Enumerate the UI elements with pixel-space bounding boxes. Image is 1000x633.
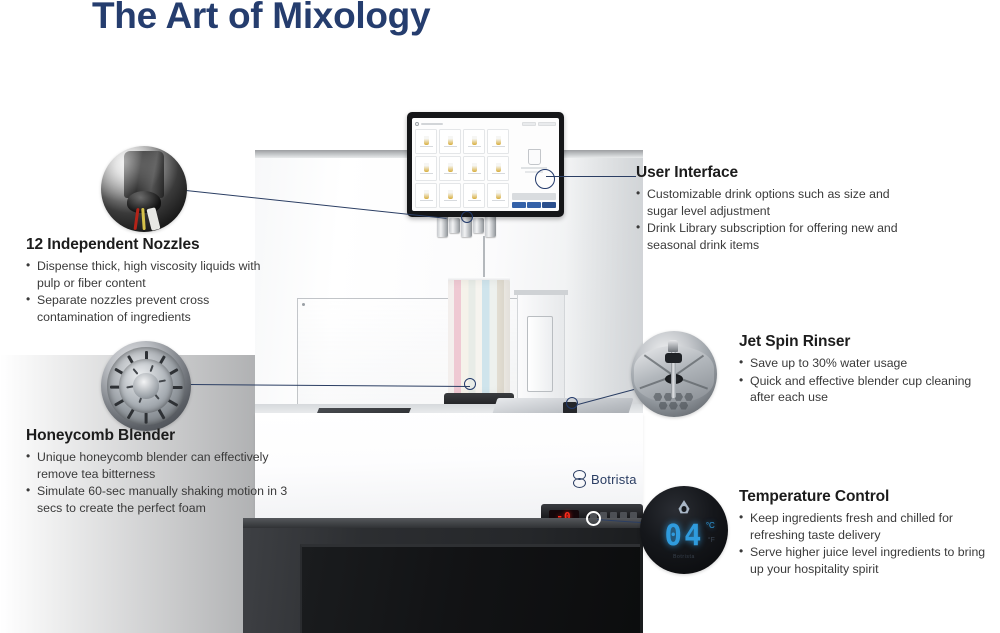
drink-tile[interactable] xyxy=(487,183,509,208)
drink-tile[interactable] xyxy=(415,129,437,154)
drink-tile[interactable] xyxy=(439,156,461,181)
hotspot-rinser[interactable] xyxy=(566,397,578,409)
cup-preview-icon xyxy=(528,149,541,165)
callout-bullet: Unique honeycomb blender can effectively… xyxy=(26,449,288,482)
drink-grid[interactable] xyxy=(415,129,509,208)
callout-bullet: Simulate 60-sec manually shaking motion … xyxy=(26,483,288,516)
base-cabinet-door[interactable] xyxy=(300,544,640,633)
temperature-unit-f: °F xyxy=(708,537,715,544)
drink-tile[interactable] xyxy=(487,156,509,181)
drink-tile[interactable] xyxy=(415,183,437,208)
tablet-search-chip[interactable] xyxy=(538,122,556,126)
callout-user-interface: User Interface Customizable drink option… xyxy=(636,164,898,254)
drink-tile[interactable] xyxy=(463,183,485,208)
callout-nozzles: 12 Independent Nozzles Dispense thick, h… xyxy=(26,236,284,326)
callout-bullet: Customizable drink options such as size … xyxy=(636,186,898,219)
tablet-action-buttons[interactable] xyxy=(512,202,556,208)
water-drop-icon xyxy=(679,500,690,514)
callout-bullet-list: Unique honeycomb blender can effectively… xyxy=(26,449,288,516)
callout-bullet: Save up to 30% water usage xyxy=(739,355,991,372)
nozzle-closeup-photo xyxy=(101,146,187,232)
hotspot-nozzles[interactable] xyxy=(461,211,473,223)
temperature-unit-c: °C xyxy=(706,521,715,530)
callout-honeycomb-blender: Honeycomb Blender Unique honeycomb blend… xyxy=(26,427,288,517)
drink-tile[interactable] xyxy=(487,129,509,154)
callout-bullet-list: Keep ingredients fresh and chilled for r… xyxy=(739,510,997,577)
callout-bullet: Separate nozzles prevent cross contamina… xyxy=(26,292,284,325)
callout-title: User Interface xyxy=(636,164,898,182)
tablet-title-placeholder xyxy=(421,123,443,126)
tablet-action-button[interactable] xyxy=(527,202,541,208)
tablet-header xyxy=(415,121,556,127)
hotspot-user-interface[interactable] xyxy=(535,169,555,189)
drink-tile[interactable] xyxy=(439,129,461,154)
botrista-infinity-icon xyxy=(573,470,586,489)
drink-tile[interactable] xyxy=(463,156,485,181)
callout-title: Honeycomb Blender xyxy=(26,427,288,445)
page-title: The Art of Mixology xyxy=(92,0,430,37)
drink-tile[interactable] xyxy=(415,156,437,181)
tablet-filter-chip[interactable] xyxy=(522,122,536,126)
tablet-touchscreen[interactable] xyxy=(407,112,564,217)
infographic-canvas: The Art of Mixology xyxy=(0,0,1000,633)
callout-bullet-list: Dispense thick, high viscosity liquids w… xyxy=(26,258,284,325)
brand-logo: Botrista xyxy=(573,470,637,489)
drink-tile[interactable] xyxy=(463,129,485,154)
drink-tile[interactable] xyxy=(439,183,461,208)
temperature-brand-label: Botrista xyxy=(640,554,728,560)
menu-icon[interactable] xyxy=(415,122,419,126)
brand-name: Botrista xyxy=(591,472,637,487)
drink-preview-pane xyxy=(512,129,556,208)
callout-bullet: Serve higher juice level ingredients to … xyxy=(739,544,997,577)
dispense-arm-hook xyxy=(527,316,553,392)
jet-spin-rinser-photo xyxy=(631,331,717,417)
callout-bullet: Dispense thick, high viscosity liquids w… xyxy=(26,258,284,291)
callout-bullet-list: Save up to 30% water usage Quick and eff… xyxy=(739,355,991,406)
hotspot-temperature[interactable] xyxy=(586,511,601,526)
callout-title: Temperature Control xyxy=(739,488,997,506)
tablet-action-button[interactable] xyxy=(512,202,526,208)
connector-line-user-interface xyxy=(546,176,636,177)
base-cabinet-lip xyxy=(243,518,643,528)
tablet-action-button[interactable] xyxy=(542,202,556,208)
preview-action-bar[interactable] xyxy=(512,193,556,200)
callout-title: Jet Spin Rinser xyxy=(739,333,991,351)
temperature-display-photo: 04 °C °F Botrista xyxy=(640,486,728,574)
blender-cup xyxy=(448,280,510,395)
callout-bullet: Quick and effective blender cup cleaning… xyxy=(739,373,991,406)
dispense-arm-bar xyxy=(514,290,568,295)
callout-jet-spin-rinser: Jet Spin Rinser Save up to 30% water usa… xyxy=(739,333,991,407)
callout-bullet: Drink Library subscription for offering … xyxy=(636,220,898,253)
callout-bullet-list: Customizable drink options such as size … xyxy=(636,186,898,253)
callout-title: 12 Independent Nozzles xyxy=(26,236,284,254)
callout-temperature-control: Temperature Control Keep ingredients fre… xyxy=(739,488,997,578)
callout-bullet: Keep ingredients fresh and chilled for r… xyxy=(739,510,997,543)
hotspot-blender[interactable] xyxy=(464,378,476,390)
honeycomb-blender-photo xyxy=(101,341,191,431)
